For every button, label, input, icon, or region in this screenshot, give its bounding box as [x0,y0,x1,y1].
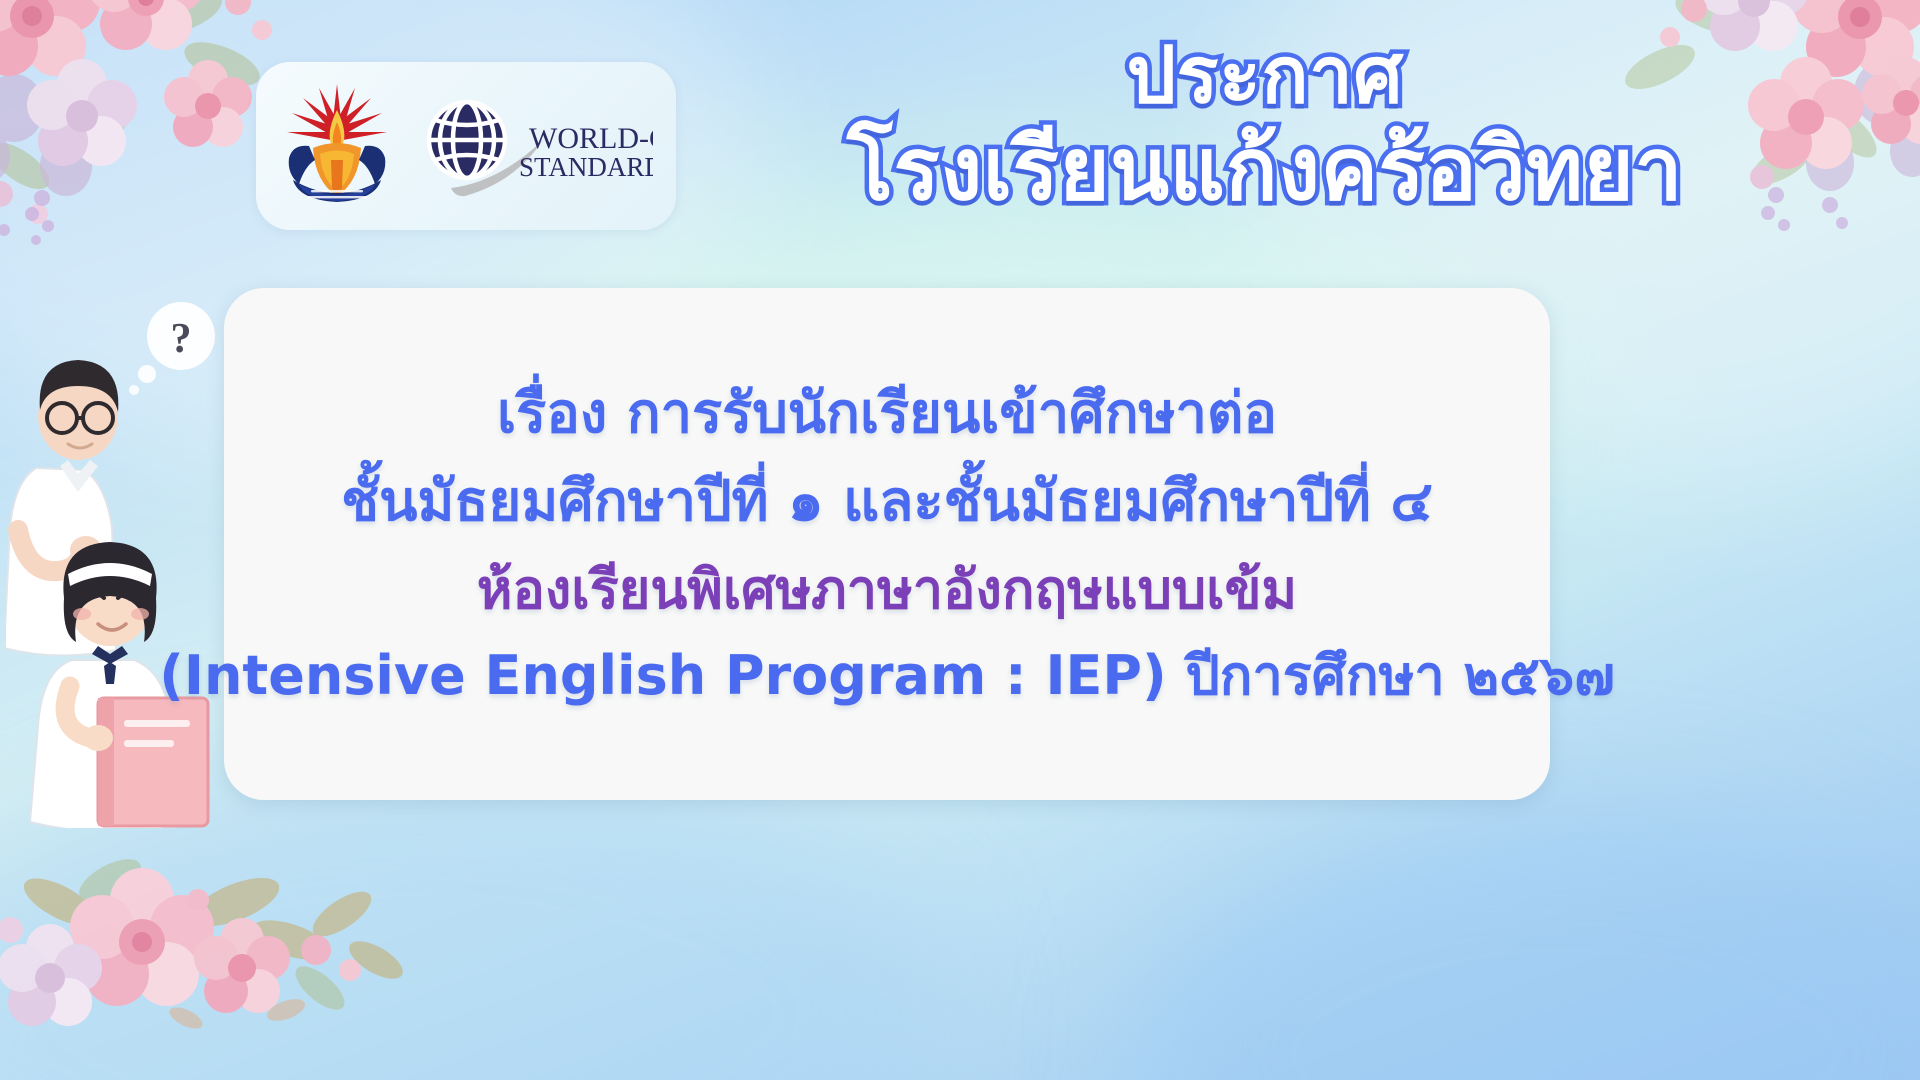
floral-decoration-bottom-left-icon [0,810,420,1080]
poster-canvas: ? [0,0,1920,1080]
announcement-line-4: (Intensive English Program : IEP) ปีการศ… [159,635,1615,716]
announcement-card: เรื่อง การรับนักเรียนเข้าศึกษาต่อ ชั้นมั… [224,288,1550,800]
world-class-text-line1: WORLD-CLASS [529,122,653,155]
world-class-standard-school-logo-icon: WORLD-CLASS STANDARD SCHOOL [421,92,653,200]
headline-line-2: โรงเรียนแก้งคร้อวิทยา [640,124,1890,217]
poster-headline: ประกาศ โรงเรียนแก้งคร้อวิทยา [640,34,1890,217]
announcement-line-3: ห้องเรียนพิเศษภาษาอังกฤษแบบเข้ม [477,548,1297,632]
headline-line-1: ประกาศ [640,34,1890,118]
background-glow-5 [1133,810,1920,1080]
announcement-line-1: เรื่อง การรับนักเรียนเข้าศึกษาต่อ [497,372,1277,456]
ministry-of-education-thailand-emblem-icon [279,80,395,212]
background-glow-4 [0,756,941,1080]
logo-card: WORLD-CLASS STANDARD SCHOOL [256,62,676,230]
thought-bubble-icon: ? [129,302,215,395]
svg-text:?: ? [171,316,192,362]
world-class-text-line2: STANDARD SCHOOL [519,152,653,182]
announcement-line-2: ชั้นมัธยมศึกษาปีที่ ๑ และชั้นมัธยมศึกษาป… [341,460,1433,544]
